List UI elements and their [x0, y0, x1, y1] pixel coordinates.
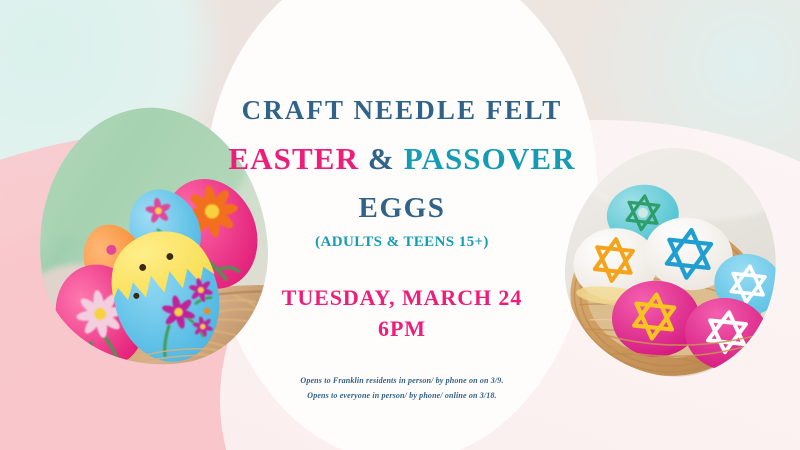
audience-note: (ADULTS & TEENS 15+): [196, 234, 608, 251]
flyer-text-block: CRAFT NEEDLE FELT EASTER & PASSOVER EGGS…: [196, 96, 608, 403]
heading-line-3: EGGS: [196, 192, 608, 225]
registration-fineprint: Opens to Franklin residents in person/ b…: [196, 374, 608, 404]
heading-passover: PASSOVER: [404, 141, 576, 176]
fineprint-line-1: Opens to Franklin residents in person/ b…: [196, 374, 608, 389]
event-date: TUESDAY, MARCH 24: [196, 285, 608, 311]
fineprint-line-2: Opens to everyone in person/ by phone/ o…: [196, 389, 608, 404]
heading-easter: EASTER: [228, 141, 359, 176]
heading-line-2: EASTER & PASSOVER: [196, 143, 608, 176]
heading-ampersand: &: [368, 141, 395, 176]
flyer-canvas: CRAFT NEEDLE FELT EASTER & PASSOVER EGGS…: [0, 0, 800, 450]
heading-line-1: CRAFT NEEDLE FELT: [196, 96, 608, 125]
event-time: 6PM: [196, 316, 608, 342]
